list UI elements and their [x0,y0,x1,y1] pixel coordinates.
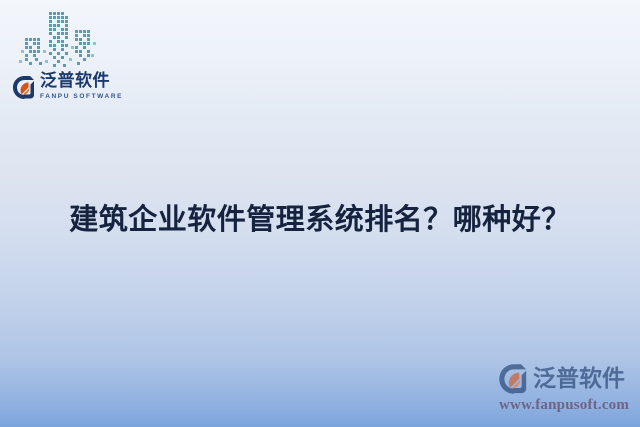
brand-logo-lockup: 泛普软件 FANPU SOFTWARE [12,72,123,101]
pixel-skyline-icon [15,6,110,72]
watermark-url: www.fanpusoft.com [499,397,629,414]
watermark: 泛普软件 www.fanpusoft.com [496,361,636,421]
brand-name-en: FANPU SOFTWARE [40,92,123,101]
brand-name-cn: 泛普软件 [40,72,123,91]
page-title: 建筑企业软件管理系统排名？哪种好？ [0,199,640,239]
banner-canvas: 泛普软件 FANPU SOFTWARE 建筑企业软件管理系统排名？哪种好？ 泛普… [0,0,640,427]
brand-wordmark: 泛普软件 FANPU SOFTWARE [40,72,123,101]
fanpu-swoosh-logo-icon [498,363,530,395]
fanpu-swoosh-logo-icon [12,75,37,100]
brand-block: 泛普软件 FANPU SOFTWARE [10,6,140,111]
watermark-brand-name: 泛普软件 [533,366,625,392]
watermark-logo-lockup: 泛普软件 [498,363,625,395]
